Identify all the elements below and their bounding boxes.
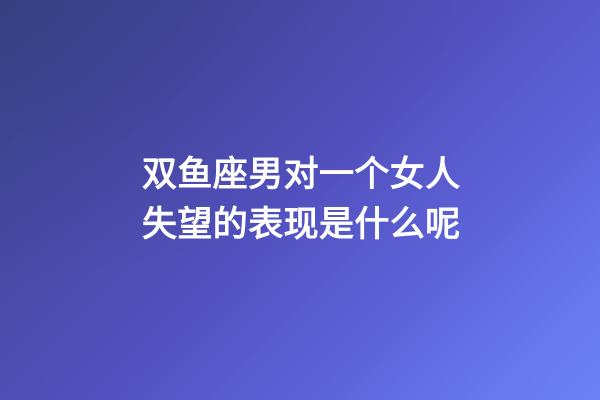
headline-line-1: 双鱼座男对一个女人: [142, 150, 472, 200]
headline-block: 双鱼座男对一个女人 失望的表现是什么呢: [142, 150, 472, 250]
headline-line-2: 失望的表现是什么呢: [142, 200, 472, 250]
article-title-cover: 双鱼座男对一个女人 失望的表现是什么呢: [0, 0, 600, 400]
